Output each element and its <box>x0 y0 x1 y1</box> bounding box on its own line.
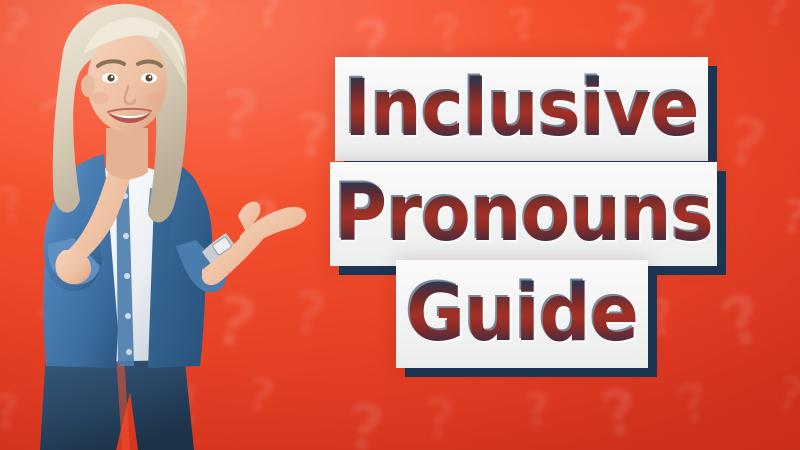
title-card-line-2: Pronouns <box>330 162 717 266</box>
open-palm-arm <box>166 176 306 297</box>
title-card-line-3: Guide <box>396 260 648 368</box>
thumbnail-canvas: ????????????????????????????????????????… <box>0 0 800 450</box>
title-line-2-text: Pronouns <box>334 169 713 259</box>
title-line-3-text: Guide <box>406 269 638 359</box>
woman-pointing-photo <box>0 0 308 450</box>
neck <box>106 128 148 179</box>
title-card-line-1: Inclusive <box>335 57 708 161</box>
title-line-1-text: Inclusive <box>344 64 699 154</box>
